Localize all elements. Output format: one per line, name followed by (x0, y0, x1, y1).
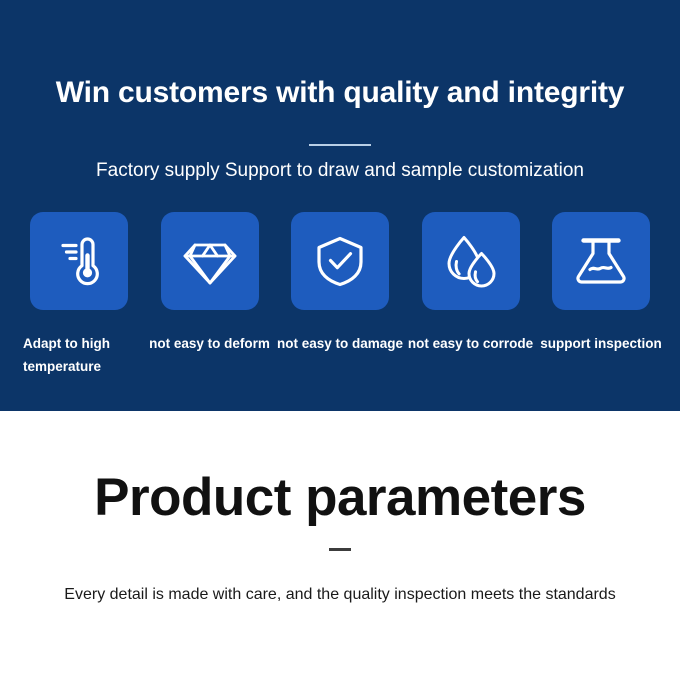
feature-item-deform[interactable]: not easy to deform (161, 212, 259, 355)
water-drops-icon (442, 232, 500, 290)
feature-icon-box (30, 212, 128, 310)
diamond-icon (181, 232, 239, 290)
flask-icon (572, 232, 630, 290)
feature-icon-box (291, 212, 389, 310)
feature-label: support inspection (537, 332, 665, 355)
feature-list: Adapt to high temperature not (30, 212, 650, 387)
hero-divider (309, 144, 371, 146)
section-subtitle: Every detail is made with care, and the … (0, 583, 680, 607)
feature-item-temperature[interactable]: Adapt to high temperature (30, 212, 128, 378)
product-parameters-section: Product parameters (0, 411, 680, 680)
hero-title: Win customers with quality and integrity (0, 74, 680, 112)
thermometer-icon (51, 233, 107, 289)
hero-section: Win customers with quality and integrity… (0, 0, 680, 411)
section-title: Product parameters (0, 467, 680, 529)
hero-subtitle: Factory supply Support to draw and sampl… (0, 158, 680, 184)
feature-icon-box (552, 212, 650, 310)
feature-label: not easy to deform (146, 332, 274, 355)
promo-banner: Win customers with quality and integrity… (0, 0, 680, 680)
feature-item-inspection[interactable]: support inspection (552, 212, 650, 355)
feature-label: not easy to corrode (407, 332, 535, 355)
shield-check-icon (311, 232, 369, 290)
feature-label: not easy to damage (276, 332, 404, 355)
feature-icon-box (161, 212, 259, 310)
feature-label: Adapt to high temperature (23, 332, 127, 378)
feature-item-corrode[interactable]: not easy to corrode (422, 212, 520, 355)
feature-icon-box (422, 212, 520, 310)
section-divider (329, 548, 351, 551)
feature-item-damage[interactable]: not easy to damage (291, 212, 389, 355)
